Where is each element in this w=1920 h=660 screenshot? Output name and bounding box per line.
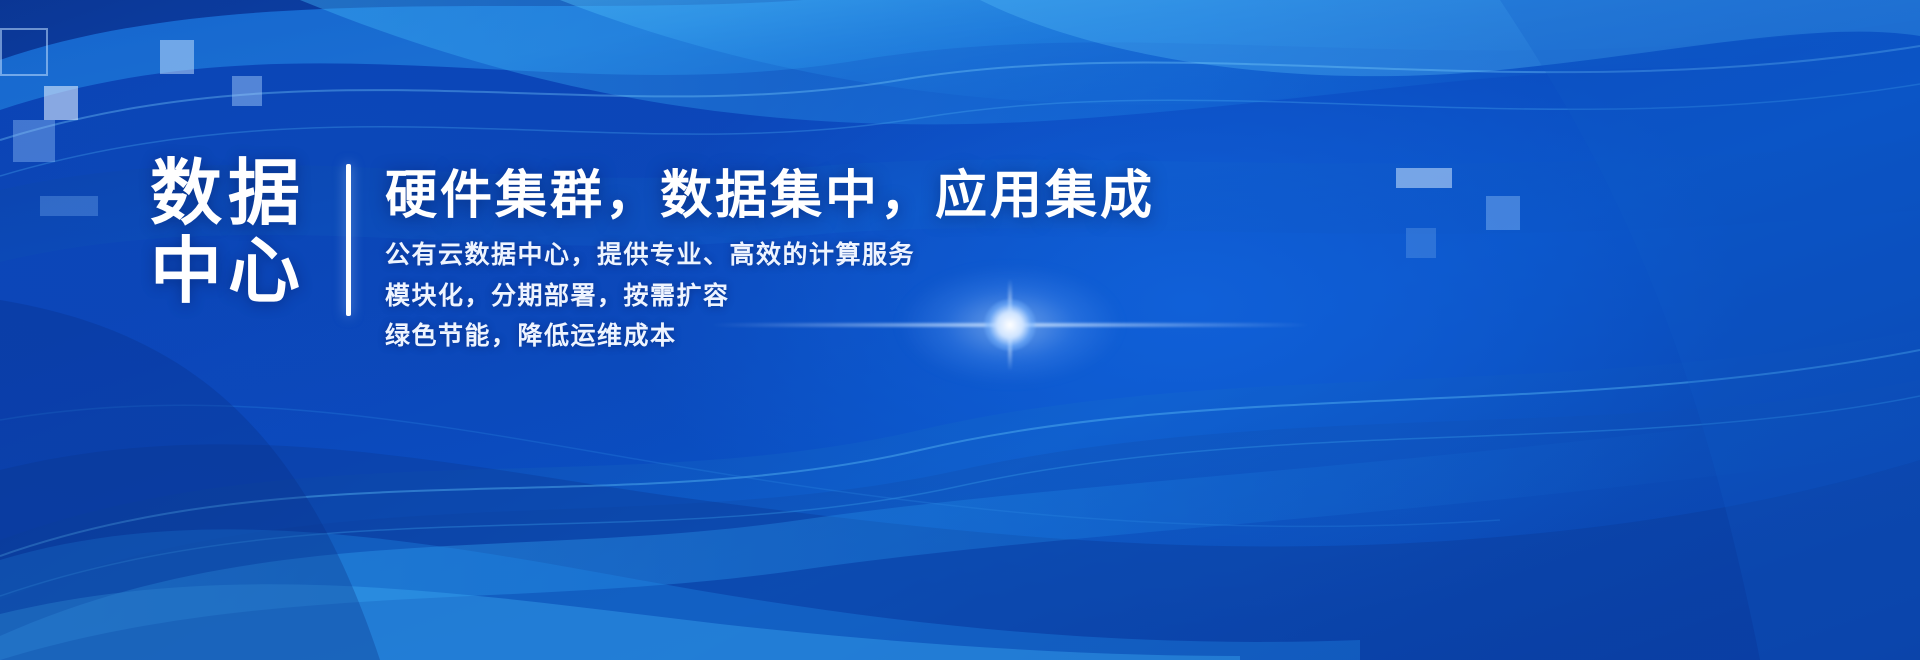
brand-line-1: 数据 — [150, 156, 306, 234]
subtitle-line-3: 绿色节能，降低运维成本 — [385, 316, 1155, 357]
copy-block: 硬件集群，数据集中，应用集成 公有云数据中心，提供专业、高效的计算服务 模块化，… — [385, 150, 1155, 357]
decor-square-5 — [160, 40, 194, 74]
headline: 硬件集群，数据集中，应用集成 — [385, 168, 1155, 225]
decor-square-9 — [1406, 228, 1436, 258]
decor-square-8 — [1486, 196, 1520, 230]
decor-square-4 — [232, 76, 262, 106]
decor-square-3 — [13, 120, 55, 162]
subtitle-line-1: 公有云数据中心，提供专业、高效的计算服务 — [385, 235, 1155, 276]
vertical-divider — [346, 164, 351, 316]
decor-square-2 — [44, 86, 78, 120]
banner-content: 数据 中心 硬件集群，数据集中，应用集成 公有云数据中心，提供专业、高效的计算服… — [150, 150, 1155, 357]
decor-square-7 — [1396, 168, 1452, 188]
subtitle-line-2: 模块化，分期部署，按需扩容 — [385, 276, 1155, 317]
brand-line-2: 中心 — [150, 234, 306, 312]
decor-square-1 — [0, 28, 48, 76]
banner-root: 数据 中心 硬件集群，数据集中，应用集成 公有云数据中心，提供专业、高效的计算服… — [0, 0, 1920, 660]
decor-square-6 — [40, 196, 98, 216]
brand-title: 数据 中心 — [150, 150, 306, 312]
